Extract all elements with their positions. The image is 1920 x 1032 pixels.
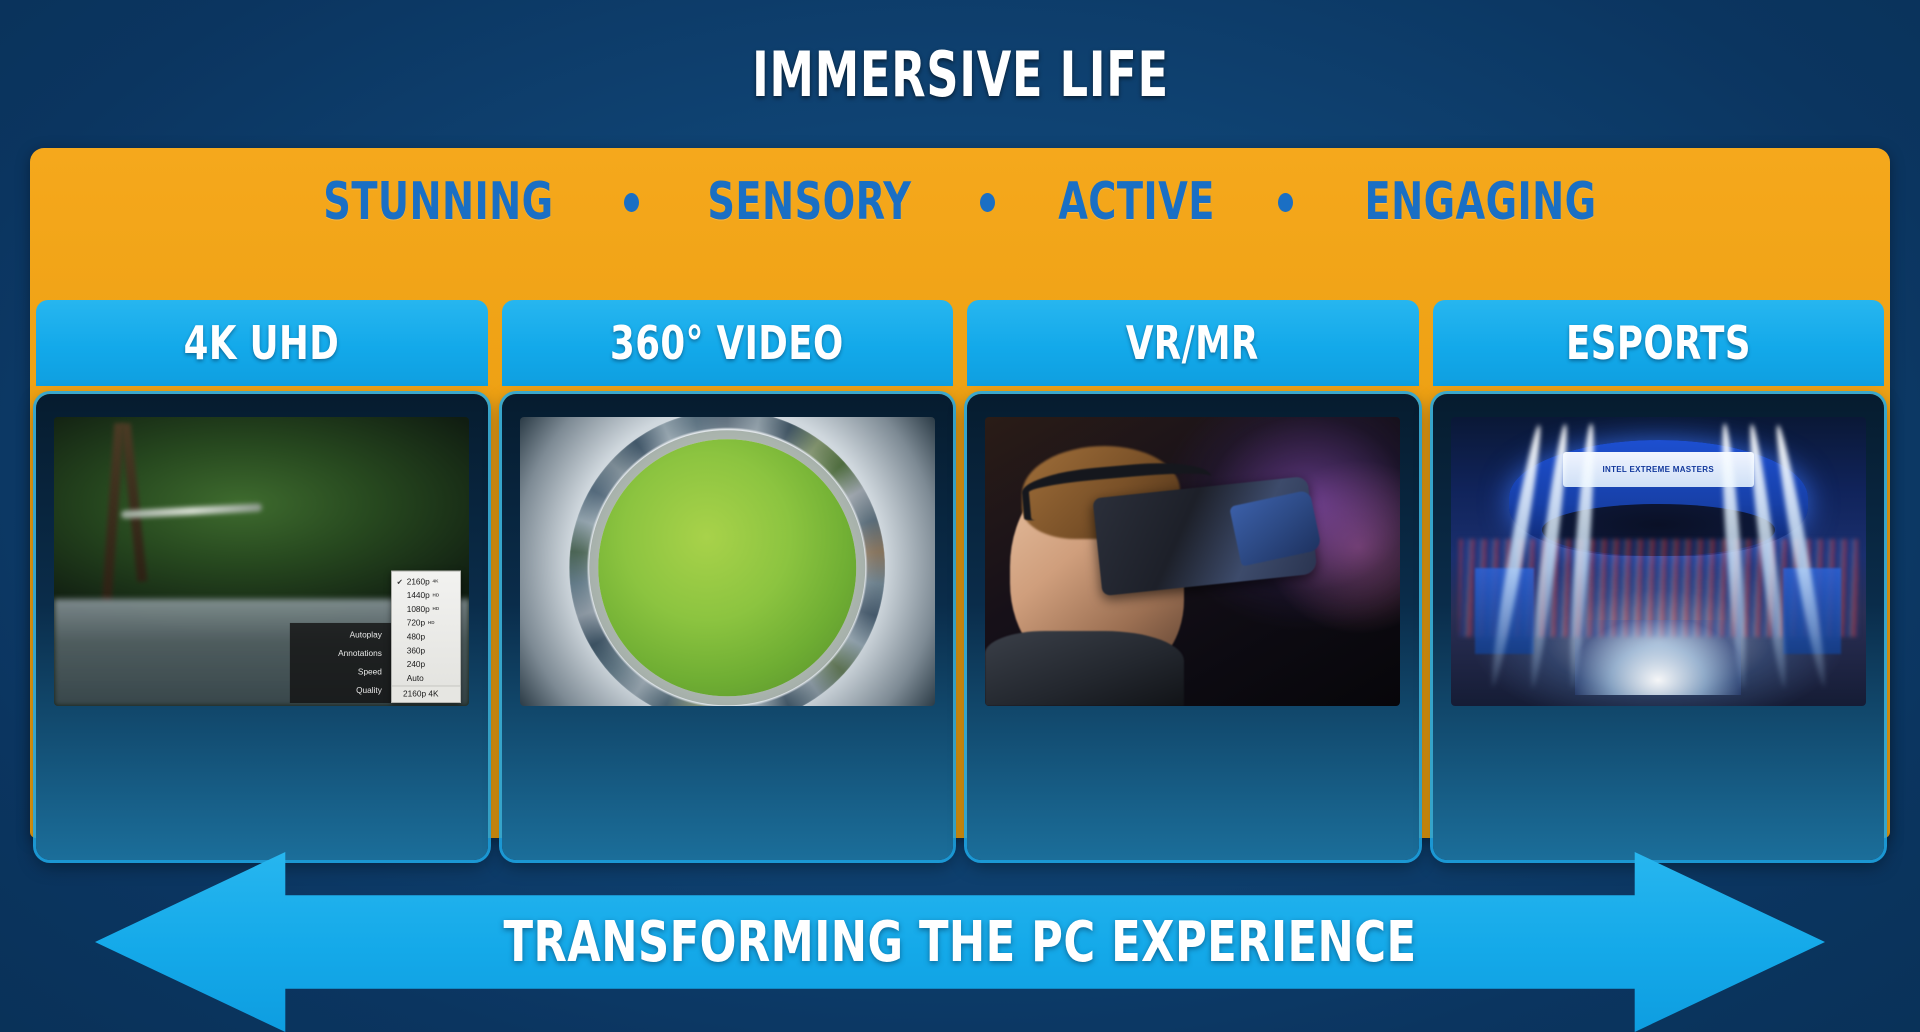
card-header-360-video: 360° VIDEO bbox=[502, 300, 954, 386]
card-body-vr-mr bbox=[967, 394, 1419, 860]
double-arrow-shape bbox=[95, 852, 1825, 1032]
menu-item-speed[interactable]: Speed bbox=[303, 667, 382, 677]
quality-label: 360p bbox=[407, 646, 425, 656]
quality-label: 720p bbox=[407, 619, 425, 629]
thumbnail-esports-arena: INTEL EXTREME MASTERS bbox=[1451, 417, 1866, 706]
card-body-esports: INTEL EXTREME MASTERS bbox=[1433, 394, 1885, 860]
menu-item-autoplay[interactable]: Autoplay bbox=[303, 631, 382, 641]
card-esports[interactable]: ESPORTS INTEL EXTREME MASTERS bbox=[1433, 300, 1885, 860]
quality-label: 1080p bbox=[407, 605, 430, 615]
current-quality-row[interactable]: 2160p 4K bbox=[392, 686, 460, 703]
youtube-settings-overlay[interactable]: Autoplay Annotations Speed Quality ✔ 216… bbox=[290, 571, 461, 703]
card-header-label: VR/MR bbox=[1126, 316, 1259, 370]
card-header-label: ESPORTS bbox=[1566, 316, 1751, 370]
card-360-video[interactable]: 360° VIDEO bbox=[502, 300, 954, 860]
quality-options-dropdown[interactable]: ✔ 2160p 4K 1440p HD 1080p bbox=[391, 571, 461, 703]
current-quality-label: 2160p bbox=[403, 690, 426, 699]
quality-option[interactable]: 360p bbox=[392, 644, 460, 658]
quality-badge: HD bbox=[428, 619, 435, 629]
vr-headset-faceplate bbox=[1229, 489, 1322, 566]
card-header-vr-mr: VR/MR bbox=[967, 300, 1419, 386]
quality-badge: 4K bbox=[433, 577, 439, 587]
card-header-4k-uhd: 4K UHD bbox=[36, 300, 488, 386]
youtube-settings-list[interactable]: Autoplay Annotations Speed Quality bbox=[290, 623, 391, 703]
tagline-separator-dot bbox=[624, 193, 639, 212]
tagline-word-stunning: STUNNING bbox=[318, 172, 558, 232]
quality-badge: HD bbox=[433, 591, 440, 601]
card-row: 4K UHD Autoplay Annotations Speed bbox=[30, 300, 1890, 860]
quality-label: 1440p bbox=[407, 591, 430, 601]
card-4k-uhd[interactable]: 4K UHD Autoplay Annotations Speed bbox=[36, 300, 488, 860]
quality-option[interactable]: 720p HD bbox=[392, 617, 460, 631]
menu-item-quality[interactable]: Quality bbox=[303, 686, 382, 696]
footer-arrow-banner: TRANSFORMING THE PC EXPERIENCE bbox=[0, 852, 1920, 1032]
tree-trunk-shape bbox=[121, 423, 148, 582]
quality-option[interactable]: ✔ 2160p 4K bbox=[392, 575, 460, 589]
title-bar: IMMERSIVE LIFE bbox=[0, 38, 1920, 111]
arena-stage-glow bbox=[1575, 620, 1741, 695]
card-body-360-video bbox=[502, 394, 954, 860]
card-header-esports: ESPORTS bbox=[1433, 300, 1885, 386]
thumbnail-vr-headset bbox=[985, 417, 1400, 706]
tagline-separator-dot bbox=[980, 193, 995, 212]
quality-badge: HD bbox=[433, 605, 440, 615]
person-shoulder-shape bbox=[985, 631, 1184, 706]
tagline-word-sensory: SENSORY bbox=[703, 172, 917, 232]
quality-option[interactable]: Auto bbox=[392, 672, 460, 686]
page-title: IMMERSIVE LIFE bbox=[752, 38, 1169, 111]
quality-option[interactable]: 240p bbox=[392, 658, 460, 672]
quality-option[interactable]: 480p bbox=[392, 631, 460, 645]
thumbnail-tiny-planet bbox=[520, 417, 935, 706]
quality-label: 240p bbox=[407, 660, 425, 670]
tagline-row: STUNNING SENSORY ACTIVE ENGAGING bbox=[30, 158, 1890, 246]
tagline-word-engaging: ENGAGING bbox=[1360, 172, 1602, 232]
quality-label: 2160p bbox=[407, 577, 430, 587]
card-body-4k-uhd: Autoplay Annotations Speed Quality ✔ 216… bbox=[36, 394, 488, 860]
quality-option[interactable]: 1440p HD bbox=[392, 589, 460, 603]
current-quality-badge: 4K bbox=[429, 690, 439, 699]
thumbnail-jungle-river: Autoplay Annotations Speed Quality ✔ 216… bbox=[54, 417, 469, 706]
fallen-branch-shape bbox=[120, 503, 261, 518]
tagline-separator-dot bbox=[1278, 193, 1293, 212]
check-icon: ✔ bbox=[397, 577, 404, 587]
tiny-planet-artwork bbox=[520, 417, 935, 706]
tagline-word-active: ACTIVE bbox=[1054, 172, 1220, 232]
arena-artwork: INTEL EXTREME MASTERS bbox=[1451, 417, 1866, 706]
planet-grass-sphere bbox=[598, 439, 856, 697]
menu-item-annotations[interactable]: Annotations bbox=[303, 649, 382, 659]
card-vr-mr[interactable]: VR/MR bbox=[967, 300, 1419, 860]
quality-option[interactable]: 1080p HD bbox=[392, 603, 460, 617]
quality-label: Auto bbox=[407, 674, 424, 684]
slide-canvas: IMMERSIVE LIFE STUNNING SENSORY ACTIVE E… bbox=[0, 0, 1920, 1032]
card-header-label: 4K UHD bbox=[184, 316, 340, 370]
vr-artwork bbox=[985, 417, 1400, 706]
card-header-label: 360° VIDEO bbox=[610, 316, 844, 370]
quality-label: 480p bbox=[407, 632, 425, 642]
